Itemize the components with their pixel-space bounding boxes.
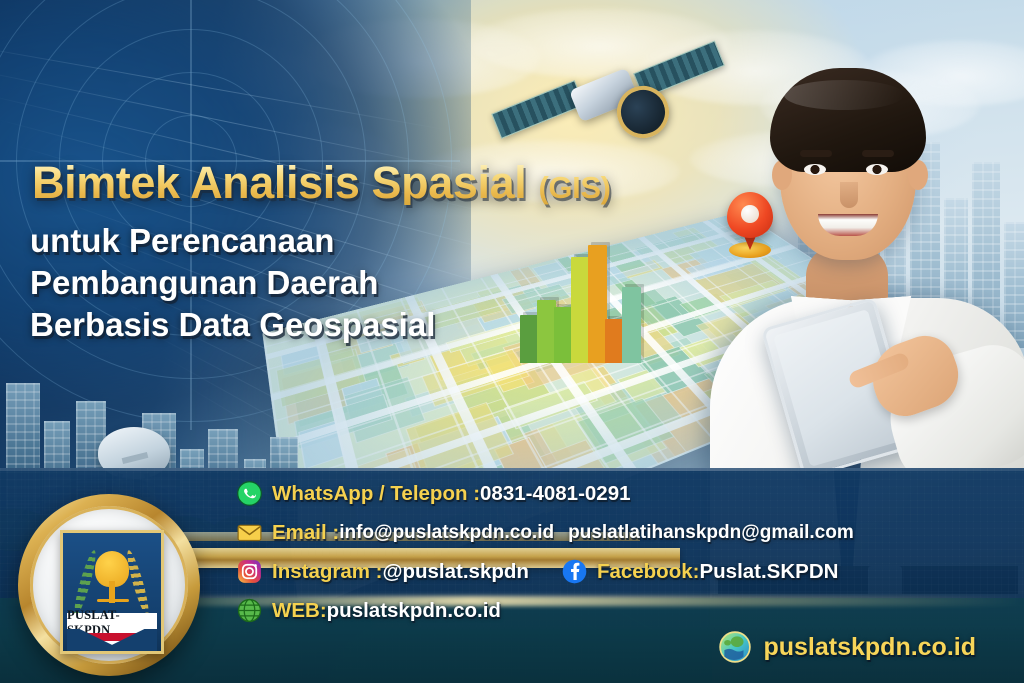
map-parcel <box>562 363 616 411</box>
title-gis-suffix: (GIS) <box>538 170 610 205</box>
tree-root-left <box>97 599 113 602</box>
instagram-icon <box>236 558 263 585</box>
map-parcel <box>341 378 385 413</box>
person-eyebrow-left <box>800 150 832 157</box>
title-main: Bimtek Analisis Spasial <box>32 157 526 208</box>
map-parcel <box>504 381 599 430</box>
rice-branch-icon <box>124 549 152 617</box>
contact-row-email[interactable]: Email : info@puslatskpdn.co.id puslatlat… <box>236 519 936 546</box>
subtitle-line-3: Berbasis Data Geospasial <box>30 304 670 346</box>
whatsapp-label: WhatsApp / Telepon : <box>272 482 480 506</box>
logo-shield: PUSLAT-SKPDN <box>60 530 164 654</box>
person-hair <box>770 68 926 172</box>
person-nose <box>840 182 858 208</box>
map-parcel <box>580 366 634 413</box>
satellite-solar-panel-left <box>491 80 585 139</box>
logo-medallion: PUSLAT-SKPDN <box>18 494 200 676</box>
contact-row-web[interactable]: WEB: puslatskpdn.co.id <box>236 597 936 624</box>
person-eyebrow-right <box>862 150 894 157</box>
person-eye-right <box>866 164 888 175</box>
map-parcel <box>451 358 519 390</box>
email-label: Email : <box>272 521 339 545</box>
instagram-handle: @puslat.skpdn <box>383 560 529 584</box>
contact-row-whatsapp[interactable]: WhatsApp / Telepon : 0831-4081-0291 <box>236 480 936 507</box>
web-icon <box>236 597 263 624</box>
email-address-secondary: puslatlatihanskpdn@gmail.com <box>568 522 854 544</box>
subtitle-line-2: Pembangunan Daerah <box>30 262 670 304</box>
map-parcel <box>446 360 552 425</box>
satellite-graphic <box>495 40 710 170</box>
instagram-label: Instagram : <box>272 560 383 584</box>
map-parcel <box>566 367 612 399</box>
tree-root-right <box>113 599 129 602</box>
contact-list: WhatsApp / Telepon : 0831-4081-0291 Emai… <box>236 480 936 636</box>
footer-website[interactable]: puslatskpdn.co.id <box>718 630 976 664</box>
footer-website-text: puslatskpdn.co.id <box>763 633 976 662</box>
whatsapp-number: 0831-4081-0291 <box>480 482 630 506</box>
map-parcel <box>404 374 492 418</box>
map-parcel <box>414 398 527 473</box>
facebook-icon <box>561 558 588 585</box>
person-eye-left <box>804 164 826 175</box>
map-parcel <box>597 412 651 452</box>
facebook-label: Facebook: <box>597 560 700 584</box>
contact-row-social[interactable]: Instagram : @puslat.skpdn Facebook: Pusl… <box>236 558 936 585</box>
map-parcel <box>617 369 668 404</box>
map-parcel <box>389 347 425 369</box>
map-parcel <box>568 373 684 451</box>
cotton-branch-icon <box>71 549 99 617</box>
geo-line <box>0 40 452 131</box>
email-address-primary: info@puslatskpdn.co.id <box>339 522 554 544</box>
globe-icon <box>718 630 752 664</box>
web-label: WEB: <box>272 599 327 623</box>
facebook-page: Puslat.SKPDN <box>699 560 838 584</box>
map-parcel <box>421 349 529 408</box>
map-parcel <box>655 386 695 410</box>
map-parcel <box>576 398 674 464</box>
subtitle-line-1: untuk Perencanaan <box>30 220 670 262</box>
email-icon <box>236 519 263 546</box>
web-url: puslatskpdn.co.id <box>327 599 501 623</box>
page-title: Bimtek Analisis Spasial (GIS) <box>32 160 692 205</box>
map-parcel <box>344 376 426 443</box>
promo-banner: Bimtek Analisis Spasial (GIS) untuk Pere… <box>0 0 1024 683</box>
whatsapp-icon <box>236 480 263 507</box>
page-subtitle: untuk Perencanaan Pembangunan Daerah Ber… <box>30 220 670 347</box>
panel-top-edge <box>0 468 1024 471</box>
